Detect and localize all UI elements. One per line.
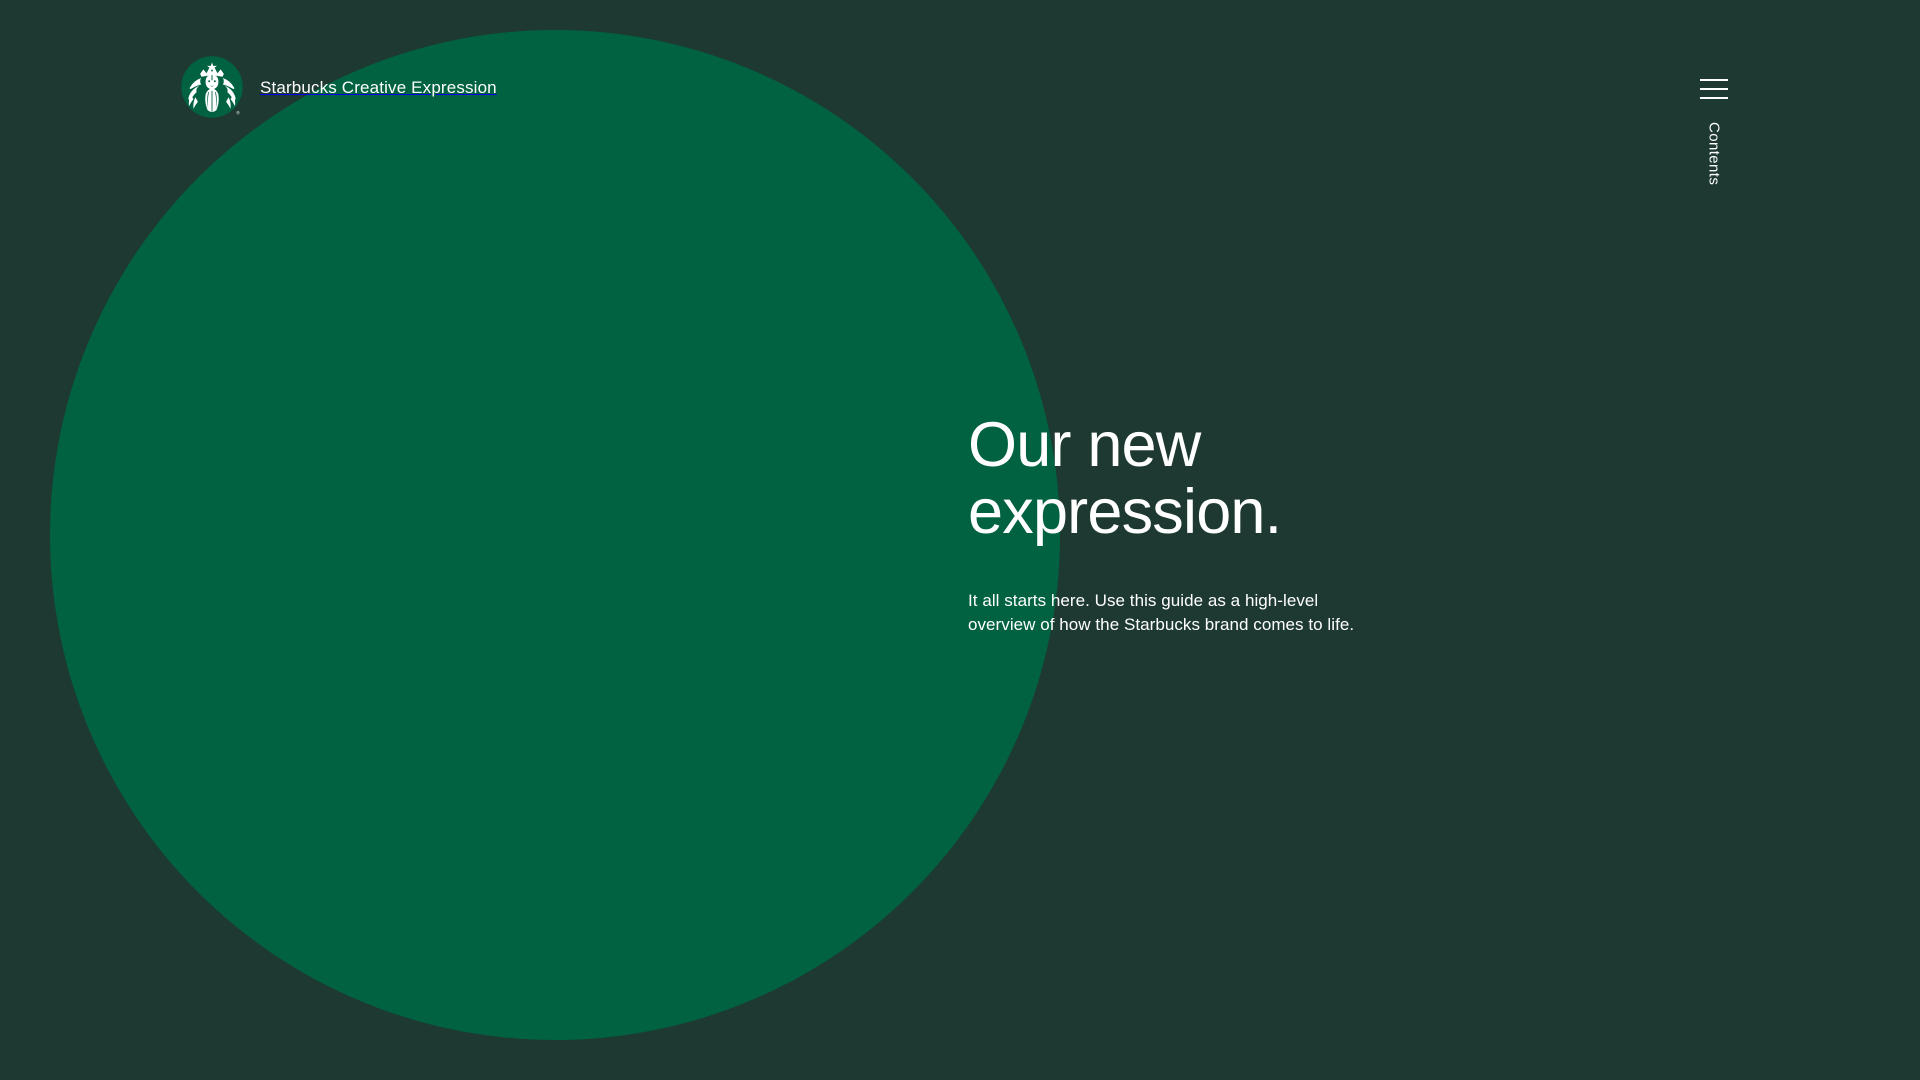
hero-subcopy: It all starts here. Use this guide as a … <box>968 589 1388 637</box>
site-header: ® Starbucks Creative Expression Contents <box>0 0 1920 180</box>
menu-bar-middle <box>1700 88 1728 90</box>
menu-bar-top <box>1700 79 1728 81</box>
hero-heading: Our new expression. <box>968 412 1428 546</box>
hamburger-menu-icon[interactable] <box>1700 76 1728 100</box>
menu-bar-bottom <box>1700 97 1728 99</box>
brand-lockup[interactable]: ® Starbucks Creative Expression <box>180 55 497 119</box>
svg-text:®: ® <box>236 110 240 116</box>
starbucks-siren-logo-icon: ® <box>180 55 244 119</box>
hero-background-circle <box>50 30 1060 1040</box>
contents-toggle-button[interactable]: Contents <box>1690 122 1738 212</box>
contents-label: Contents <box>1707 122 1722 185</box>
brand-title: Starbucks Creative Expression <box>260 79 497 96</box>
hero-section: Our new expression. It all starts here. … <box>968 412 1428 637</box>
